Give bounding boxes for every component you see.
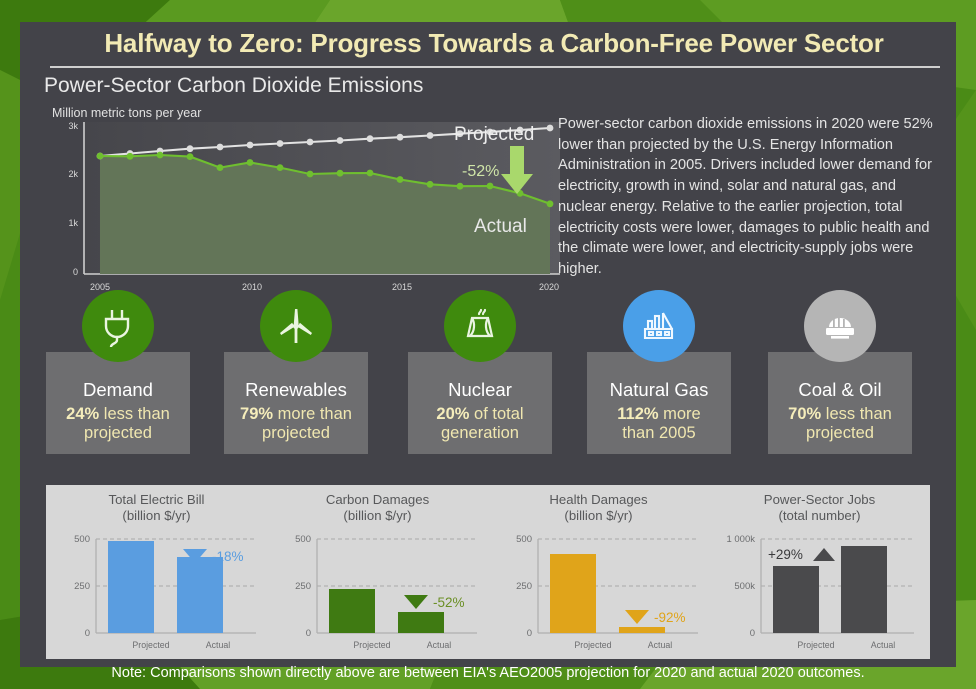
factory-icon — [623, 290, 695, 362]
stat-card-demand[interactable]: Demand 24% less thanprojected — [46, 352, 190, 454]
stat-card-value: 112% morethan 2005 — [587, 405, 731, 443]
mini-chart-delta: -18% — [212, 549, 244, 564]
mini-chart-health-damages: Health Damages(billion $/yr) 500 250 0 P… — [488, 485, 709, 659]
mini-chart-carbon-damages: Carbon Damages(billion $/yr) 500 250 0 P… — [267, 485, 488, 659]
ytick-0: 0 — [73, 267, 78, 277]
ytick-1k: 1k — [68, 218, 78, 228]
mini-chart-power-sector-jobs: Power-Sector Jobs(total number) 1 000k 5… — [709, 485, 930, 659]
stat-card-title: Renewables — [224, 380, 368, 400]
comparison-charts-panel: Total Electric Bill(billion $/yr) 500 25… — [46, 485, 930, 659]
line-chart-canvas: 3k 2k 1k 0 2005 2010 2015 2020 — [44, 122, 560, 298]
infographic-root: Halfway to Zero: Progress Towards a Carb… — [0, 0, 976, 689]
stat-card-value: 24% less thanprojected — [46, 405, 190, 443]
xtick-actual: Actual — [206, 640, 230, 650]
xtick-projected: Projected — [132, 640, 169, 650]
line-chart-y-axis-title: Million metric tons per year — [52, 106, 201, 120]
down-triangle-icon — [404, 595, 428, 609]
mini-chart-total-electric-bill: Total Electric Bill(billion $/yr) 500 25… — [46, 485, 267, 659]
ytick-1000k: 1 000k — [726, 534, 755, 545]
bar-actual — [398, 612, 444, 633]
summary-paragraph: Power-sector carbon dioxide emissions in… — [558, 114, 938, 280]
xtick-actual: Actual — [871, 640, 895, 650]
projected-series-label: Projected — [454, 124, 534, 146]
bar-projected — [108, 541, 154, 633]
emissions-line-chart: Million metric tons per year 3k 2k 1k 0 — [44, 106, 560, 298]
ytick-2k: 2k — [68, 169, 78, 179]
ytick-0: 0 — [527, 628, 532, 639]
stat-card-coal-oil[interactable]: Coal & Oil 70% less thanprojected — [768, 352, 912, 454]
stat-card-title: Nuclear — [408, 380, 552, 400]
bar-projected — [773, 566, 819, 633]
bar-projected — [329, 589, 375, 633]
stat-card-title: Natural Gas — [587, 380, 731, 400]
cooling-tower-icon — [444, 290, 516, 362]
plug-icon — [82, 290, 154, 362]
ytick-250: 250 — [74, 581, 90, 592]
poster-body: Halfway to Zero: Progress Towards a Carb… — [20, 22, 956, 667]
ytick-250: 250 — [516, 581, 532, 592]
stat-card-row: Demand 24% less thanprojected Renewables… — [46, 352, 930, 472]
page-title: Halfway to Zero: Progress Towards a Carb… — [54, 28, 934, 59]
bar-actual — [841, 546, 887, 633]
mini-chart-canvas: 1 000k 500k 0 Projected Actual — [709, 527, 930, 655]
mini-chart-title: Health Damages(billion $/yr) — [488, 492, 709, 524]
ytick-500: 500 — [74, 534, 90, 545]
mini-chart-canvas: 500 250 0 Projected Actual — [488, 527, 709, 655]
up-triangle-icon — [813, 548, 835, 561]
ytick-3k: 3k — [68, 122, 78, 131]
stat-card-value: 70% less thanprojected — [768, 405, 912, 443]
stat-card-title: Demand — [46, 380, 190, 400]
ytick-0: 0 — [306, 628, 311, 639]
mini-chart-title: Carbon Damages(billion $/yr) — [267, 492, 488, 524]
mini-chart-canvas: 500 250 0 Projected Actual — [46, 527, 267, 655]
mini-chart-delta: -92% — [654, 610, 686, 625]
chart-section-title: Power-Sector Carbon Dioxide Emissions — [44, 74, 423, 98]
ytick-250: 250 — [295, 581, 311, 592]
xtick-actual: Actual — [427, 640, 451, 650]
ytick-0: 0 — [85, 628, 90, 639]
wind-turbine-icon — [260, 290, 332, 362]
xtick-2010: 2010 — [242, 282, 262, 292]
mini-chart-delta: -52% — [433, 595, 465, 610]
stat-card-value: 20% of totalgeneration — [408, 405, 552, 443]
mini-chart-delta: +29% — [768, 547, 803, 562]
bar-projected — [550, 554, 596, 633]
xtick-projected: Projected — [353, 640, 390, 650]
stat-card-renewables[interactable]: Renewables 79% more thanprojected — [224, 352, 368, 454]
ytick-500: 500 — [295, 534, 311, 545]
ytick-0: 0 — [750, 628, 755, 639]
emissions-delta-label: -52% — [462, 163, 499, 181]
mini-chart-title: Total Electric Bill(billion $/yr) — [46, 492, 267, 524]
ytick-500k: 500k — [734, 581, 755, 592]
xtick-2015: 2015 — [392, 282, 412, 292]
down-triangle-icon — [625, 610, 649, 624]
xtick-projected: Projected — [574, 640, 611, 650]
bar-actual — [177, 557, 223, 633]
stat-card-nuclear[interactable]: Nuclear 20% of totalgeneration — [408, 352, 552, 454]
ytick-500: 500 — [516, 534, 532, 545]
xtick-projected: Projected — [797, 640, 834, 650]
xtick-2020: 2020 — [539, 282, 559, 292]
stat-card-natural-gas[interactable]: Natural Gas 112% morethan 2005 — [587, 352, 731, 454]
mini-chart-title: Power-Sector Jobs(total number) — [709, 492, 930, 524]
stat-card-value: 79% more thanprojected — [224, 405, 368, 443]
bar-actual — [619, 627, 665, 633]
mini-chart-canvas: 500 250 0 Projected Actual — [267, 527, 488, 655]
coal-car-icon — [804, 290, 876, 362]
stat-card-title: Coal & Oil — [768, 380, 912, 400]
xtick-actual: Actual — [648, 640, 672, 650]
title-divider — [50, 66, 940, 68]
footnote: Note: Comparisons shown directly above a… — [46, 661, 930, 685]
actual-series-label: Actual — [474, 216, 527, 238]
